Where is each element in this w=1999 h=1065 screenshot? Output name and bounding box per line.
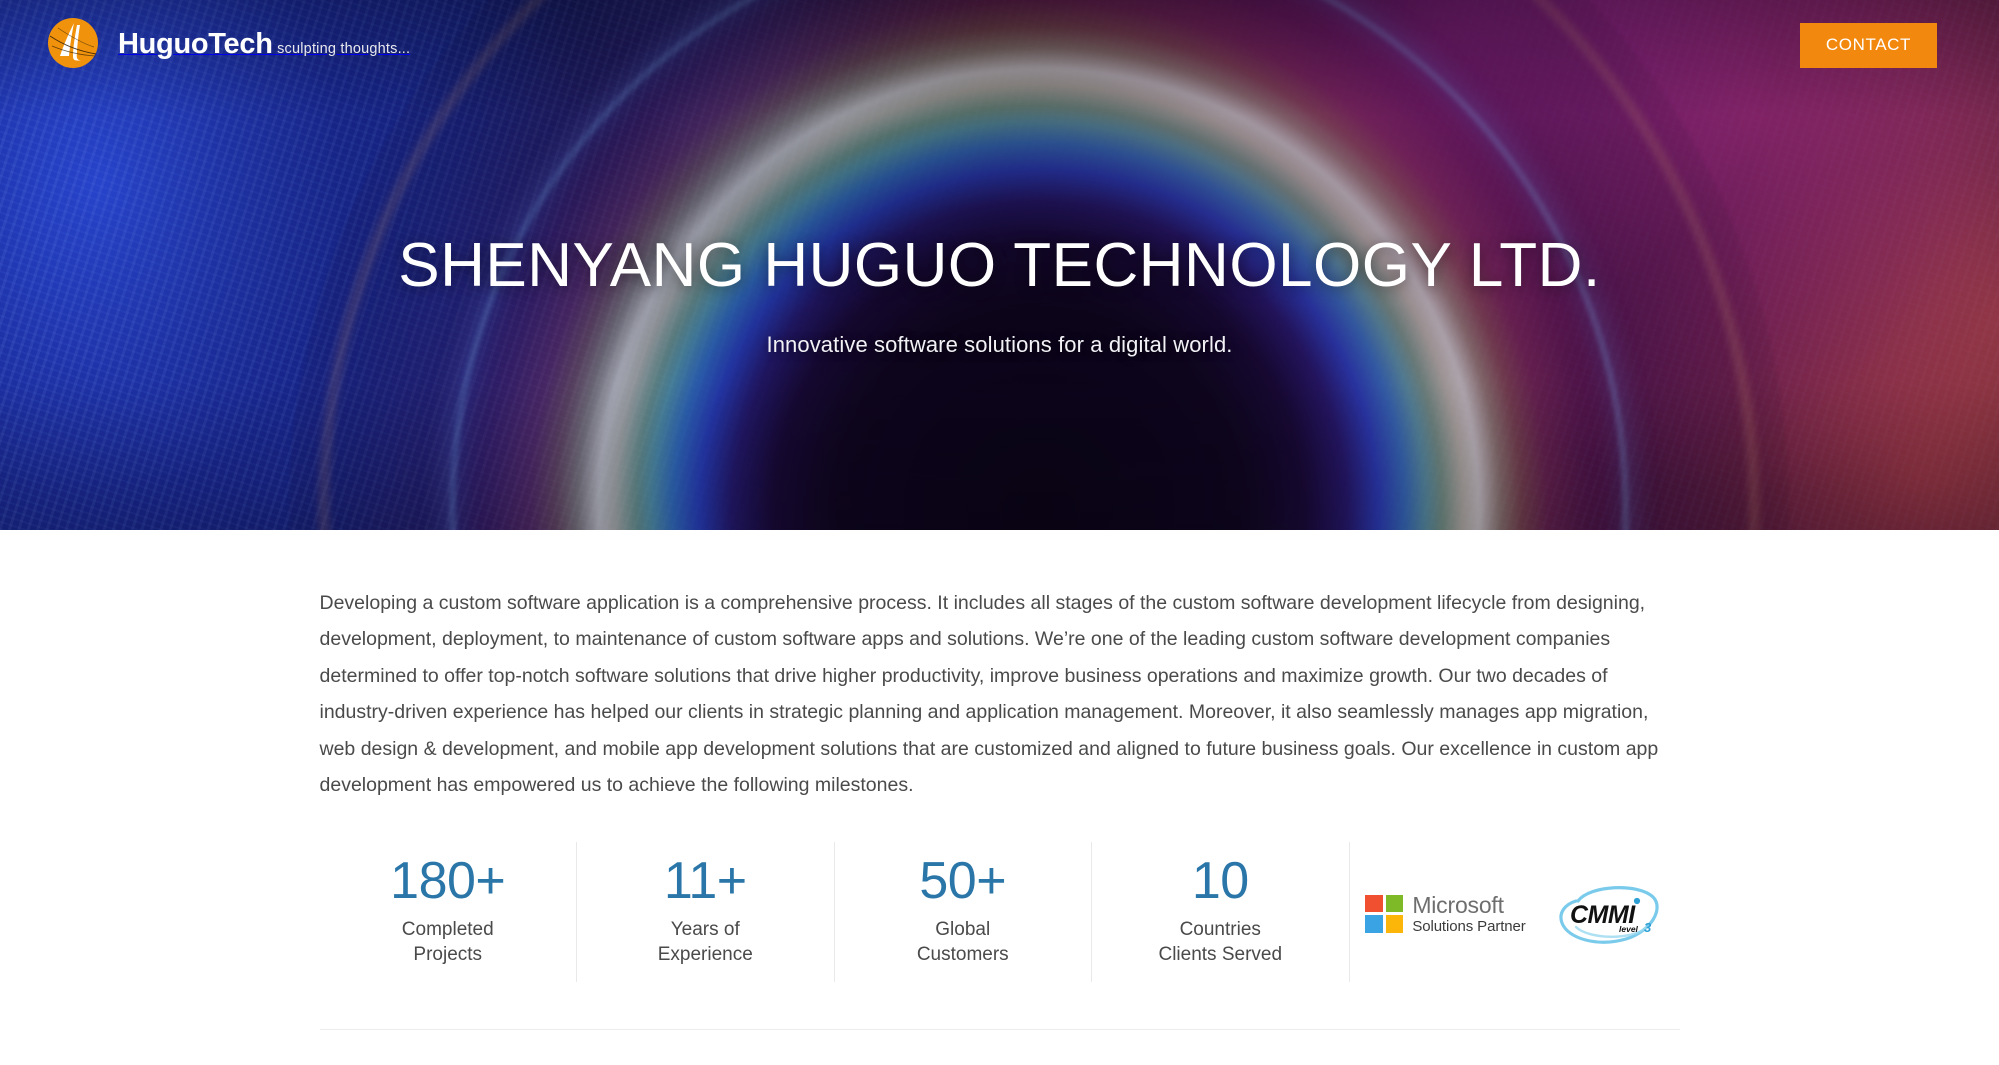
sail-circle-logo-icon [44, 14, 102, 72]
stat-global-customers: 50+ Global Customers [835, 842, 1093, 982]
brand-logo-link[interactable]: HuguoTech sculpting thoughts... [44, 14, 410, 72]
stat-label-line2: Clients Served [1158, 944, 1282, 965]
stat-countries-clients-served: 10 Countries Clients Served [1092, 842, 1350, 982]
stat-label-line1: Global [935, 919, 990, 940]
stat-label: Countries Clients Served [1158, 918, 1282, 967]
stat-value: 11+ [664, 854, 747, 909]
stat-label-line1: Years of [671, 919, 740, 940]
intro-paragraph: Developing a custom software application… [320, 585, 1680, 804]
brand-text: HuguoTech sculpting thoughts... [118, 27, 410, 59]
site-header: HuguoTech sculpting thoughts... CONTACT [0, 0, 1999, 92]
stat-label: Global Customers [917, 918, 1009, 967]
microsoft-solutions-partner-badge: Microsoft Solutions Partner [1365, 893, 1525, 935]
stat-value: 10 [1192, 854, 1249, 909]
hero-title: SHENYANG HUGUO TECHNOLOGY LTD. [0, 232, 1999, 300]
hero-copy: SHENYANG HUGUO TECHNOLOGY LTD. Innovativ… [0, 232, 1999, 358]
brand-name: HuguoTech [118, 28, 273, 60]
hero-subtitle: Innovative software solutions for a digi… [0, 332, 1999, 358]
stat-label-line1: Completed [402, 919, 494, 940]
stat-label-line1: Countries [1180, 919, 1261, 940]
cmmi-swoosh-icon: CMMI level 3 [1552, 881, 1664, 947]
stat-label-line2: Projects [413, 944, 482, 965]
stat-years-of-experience: 11+ Years of Experience [577, 842, 835, 982]
section-divider [320, 1029, 1680, 1030]
stat-label-line2: Experience [658, 944, 753, 965]
svg-text:3: 3 [1644, 920, 1652, 935]
microsoft-squares-icon [1365, 895, 1403, 933]
svg-text:level: level [1619, 924, 1639, 934]
brand-tagline: sculpting thoughts... [277, 41, 410, 57]
cmmi-level3-badge: CMMI level 3 [1552, 881, 1664, 947]
hero-section: HuguoTech sculpting thoughts... CONTACT … [0, 0, 1999, 530]
main-content: Developing a custom software application… [0, 530, 1999, 1030]
microsoft-wordmark: Microsoft Solutions Partner [1412, 893, 1525, 935]
content-container: Developing a custom software application… [320, 530, 1680, 982]
contact-button[interactable]: CONTACT [1800, 23, 1937, 68]
stat-value: 50+ [919, 854, 1006, 909]
stat-label: Years of Experience [658, 918, 753, 967]
stats-row: 180+ Completed Projects 11+ Years of Exp… [320, 842, 1680, 982]
stat-label: Completed Projects [402, 918, 494, 967]
microsoft-name: Microsoft [1412, 892, 1504, 918]
stat-label-line2: Customers [917, 944, 1009, 965]
microsoft-program-name: Solutions Partner [1412, 918, 1525, 935]
stat-completed-projects: 180+ Completed Projects [320, 842, 578, 982]
partner-badges: Microsoft Solutions Partner CMMI level 3 [1350, 842, 1680, 982]
stat-value: 180+ [390, 854, 505, 909]
